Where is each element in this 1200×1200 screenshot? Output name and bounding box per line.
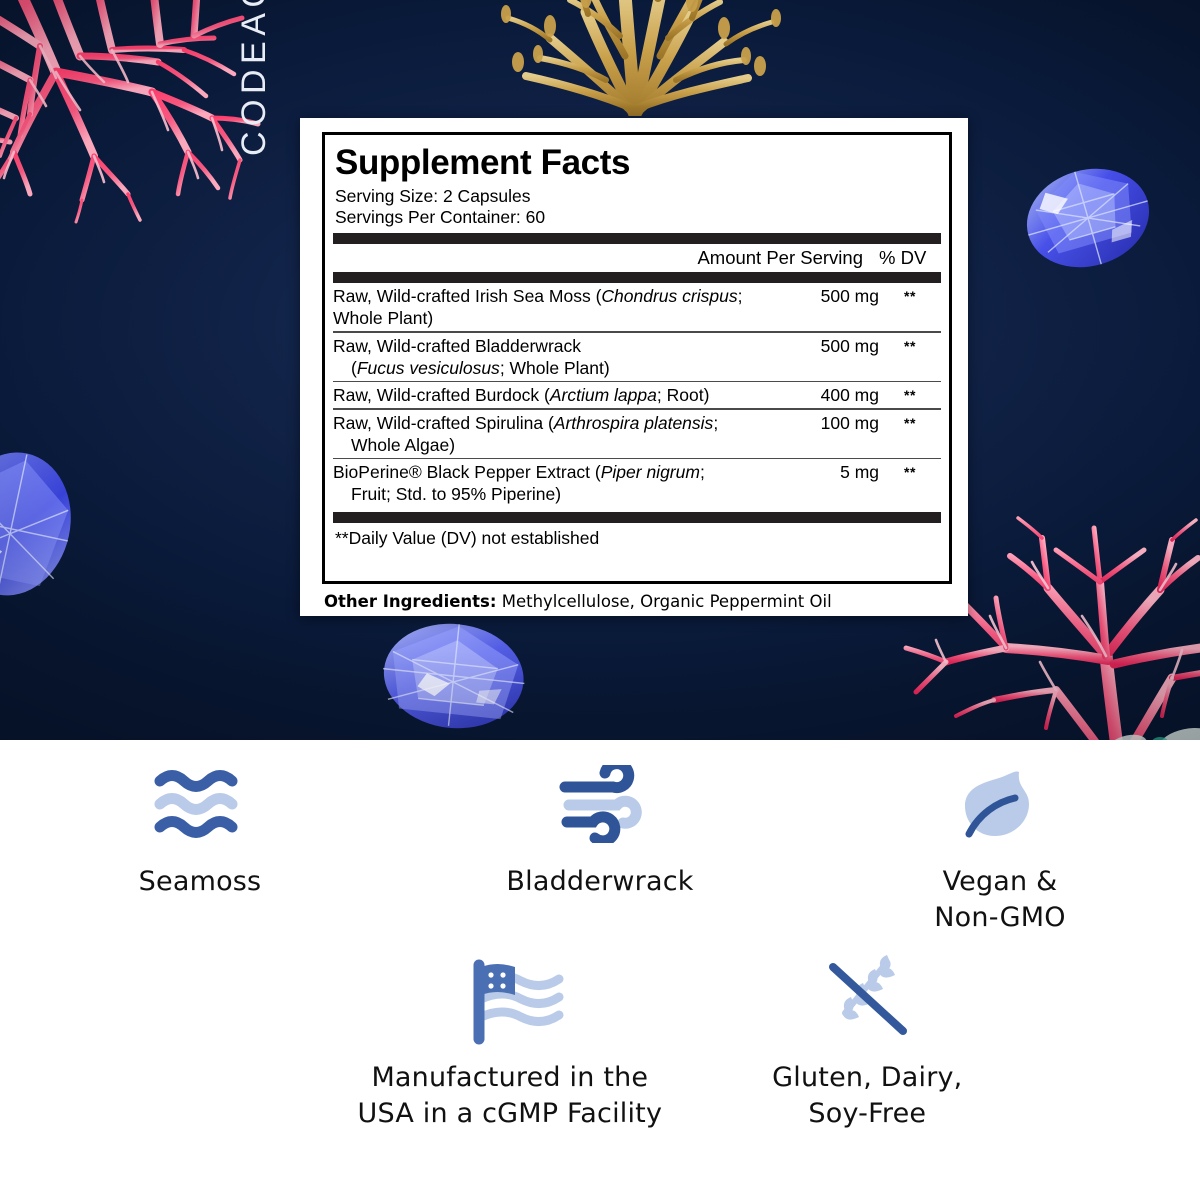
table-row: Raw, Wild-crafted Bladderwrack(Fucus ves… [333,333,941,381]
amount-per-serving-header: Amount Per Serving [697,247,863,269]
ingredient-amount: 500 mg [787,335,879,357]
ingredient-name: Raw, Wild-crafted Burdock (Arctium lappa… [333,384,787,406]
servings-per-container: Servings Per Container: 60 [335,207,941,228]
supplement-facts-box: Supplement Facts Serving Size: 2 Capsule… [322,132,952,584]
usa-flag-icon [455,954,565,1046]
benefits-row-1: Seamoss Bladderwrack [0,740,1200,936]
ingredient-dv: ** [879,412,941,434]
benefit-vegan-nongmo: Vegan & Non-GMO [800,758,1200,936]
divider-bar-bottom [333,512,941,523]
ingredient-name: Raw, Wild-crafted Bladderwrack(Fucus ves… [333,335,787,379]
ingredient-amount: 500 mg [787,285,879,307]
ingredient-name: Raw, Wild-crafted Irish Sea Moss (Chondr… [333,285,787,329]
ingredient-dv: ** [879,335,941,357]
divider-bar-top [333,233,941,244]
hero-section: CODEAGE Supplement Facts Serving Size: 2… [0,0,1200,740]
other-ingredients-label: Other Ingredients: [324,592,496,611]
wind-icon [555,758,645,850]
ingredient-dv: ** [879,461,941,483]
waves-icon [150,758,250,850]
table-row: BioPerine® Black Pepper Extract (Piper n… [333,459,941,507]
blue-gem-icon [368,618,538,740]
table-row: Raw, Wild-crafted Irish Sea Moss (Chondr… [333,283,941,331]
ingredient-amount: 5 mg [787,461,879,483]
pink-coral-icon [0,0,260,220]
other-ingredients: Other Ingredients: Methylcellulose, Orga… [322,584,952,612]
benefit-seamoss: Seamoss [0,758,400,936]
percent-dv-header: % DV [879,247,941,269]
supplement-facts-panel: Supplement Facts Serving Size: 2 Capsule… [300,118,968,616]
divider-bar-header-bottom [333,272,941,283]
benefits-row-2: Manufactured in the USA in a cGMP Facili… [0,936,1200,1132]
benefit-made-in-usa: Manufactured in the USA in a cGMP Facili… [358,954,663,1132]
table-row: Raw, Wild-crafted Spirulina (Arthrospira… [333,410,941,458]
leaf-icon [955,758,1045,850]
table-row: Raw, Wild-crafted Burdock (Arctium lappa… [333,382,941,408]
benefit-label: Bladderwrack [506,864,693,900]
brand-wordmark: CODEAGE [226,0,282,156]
table-column-headers: Amount Per Serving % DV [333,244,941,272]
ingredient-amount: 100 mg [787,412,879,434]
benefit-bladderwrack: Bladderwrack [400,758,800,936]
benefits-section: Seamoss Bladderwrack [0,740,1200,1200]
no-wheat-icon [819,954,915,1046]
supplement-facts-title: Supplement Facts [335,142,941,184]
golden-seaweed-icon [420,0,850,116]
benefit-label: Manufactured in the USA in a cGMP Facili… [358,1060,663,1132]
blue-gem-icon [0,430,92,620]
serving-size: Serving Size: 2 Capsules [335,186,941,207]
benefit-label: Gluten, Dairy, Soy-Free [772,1060,962,1132]
benefit-label: Seamoss [139,864,262,900]
other-ingredients-value: Methylcellulose, Organic Peppermint Oil [502,592,832,611]
daily-value-footnote: **Daily Value (DV) not established [333,523,941,551]
ingredient-amount: 400 mg [787,384,879,406]
benefit-label: Vegan & Non-GMO [934,864,1065,936]
ingredient-dv: ** [879,285,941,307]
ingredient-name: BioPerine® Black Pepper Extract (Piper n… [333,461,787,505]
benefit-allergen-free: Gluten, Dairy, Soy-Free [772,954,962,1132]
ingredient-dv: ** [879,384,941,406]
ingredient-name: Raw, Wild-crafted Spirulina (Arthrospira… [333,412,787,456]
product-infographic: CODEAGE Supplement Facts Serving Size: 2… [0,0,1200,1200]
blue-gem-icon [1008,148,1168,288]
